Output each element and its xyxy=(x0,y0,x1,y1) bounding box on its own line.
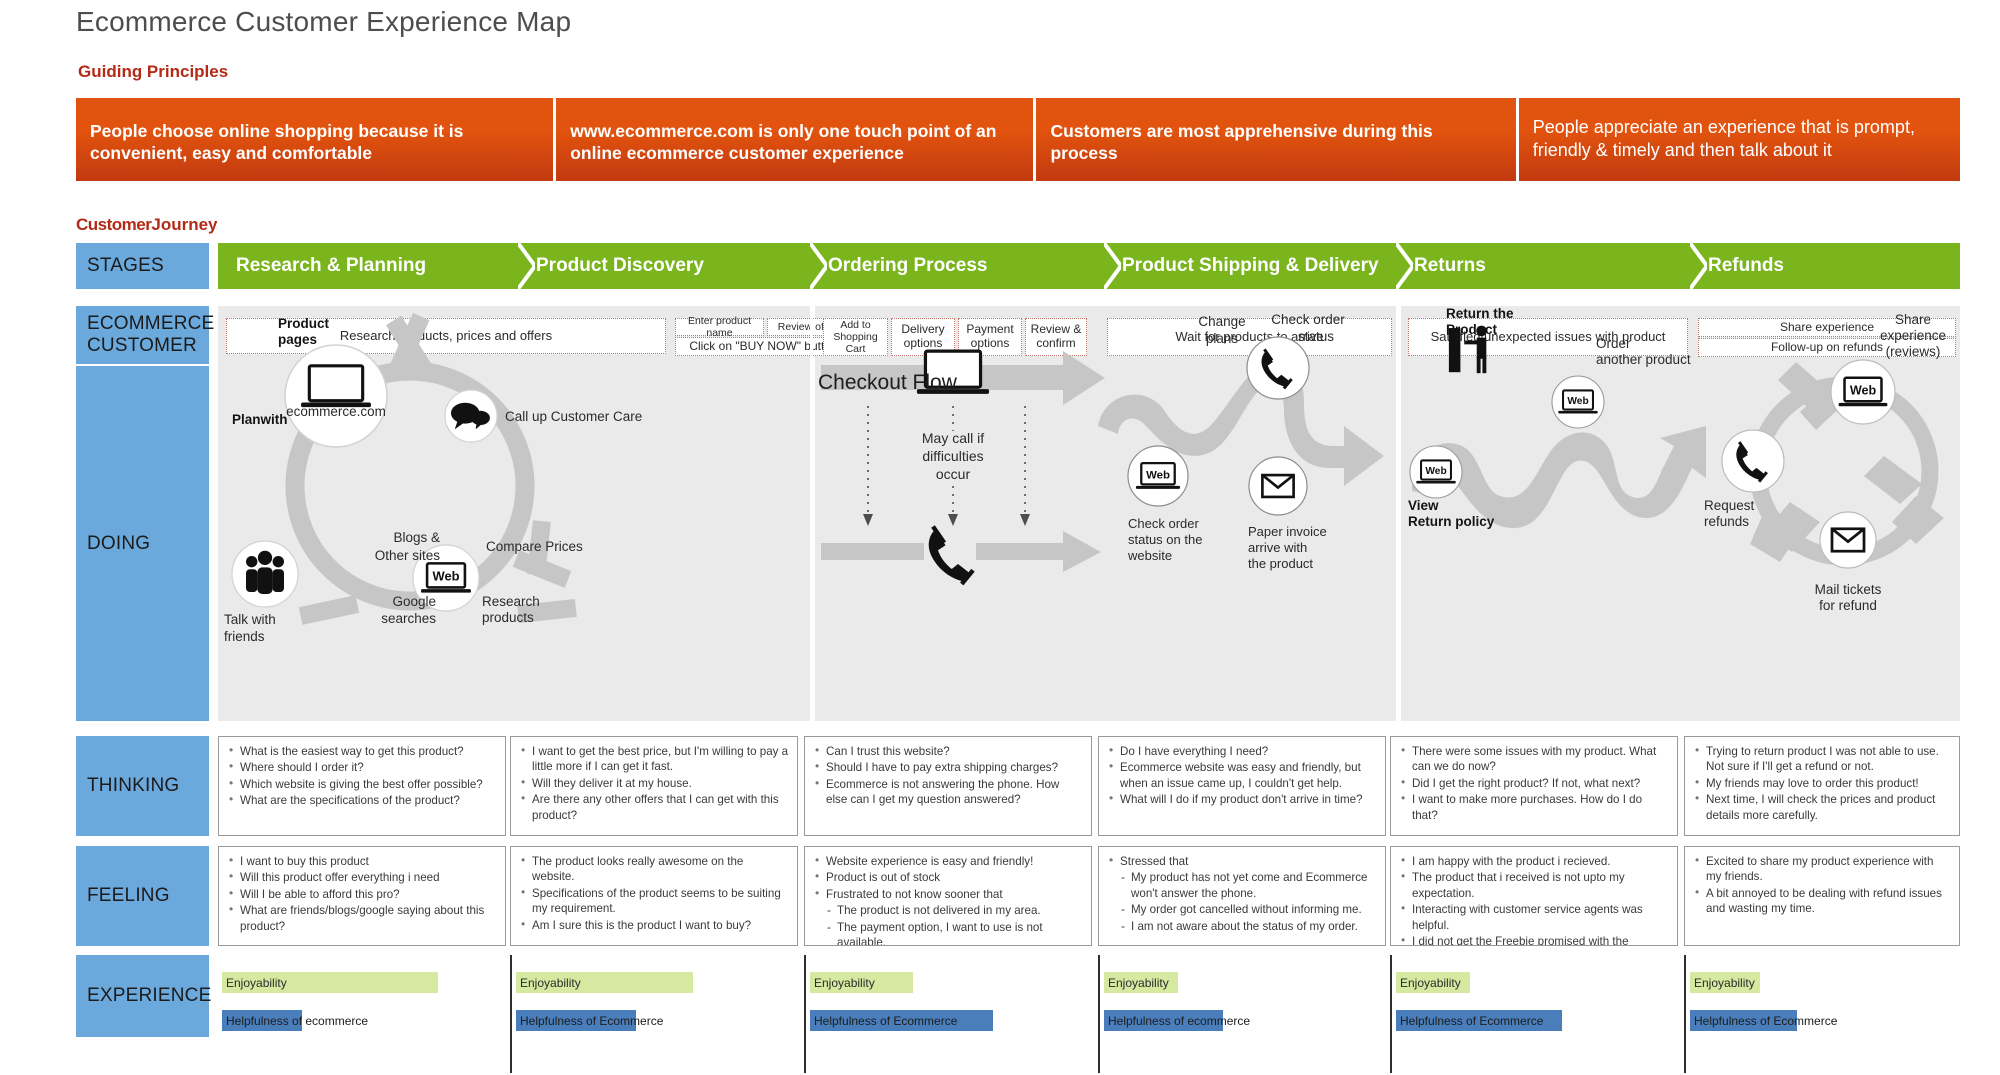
list-item: The payment option, I want to use is not… xyxy=(815,920,1083,946)
list-item: Did I get the right product? If not, wha… xyxy=(1401,776,1669,791)
paper-invoice-line2: arrive with xyxy=(1248,540,1307,555)
list-item: My order got cancelled without informing… xyxy=(1109,902,1377,917)
helpfulness-label: Helpfulness of Ecommerce xyxy=(1690,1014,1837,1028)
mail-tickets-line2: for refund xyxy=(1819,598,1877,613)
web-laptop-icon xyxy=(1839,378,1888,407)
row-label-experience: EXPERIENCE xyxy=(76,955,209,1037)
enjoyability-bar: Enjoyability xyxy=(516,972,693,993)
list-item: I want to buy this product xyxy=(229,854,497,869)
order-another-line1: Order xyxy=(1596,336,1631,351)
envelope-icon xyxy=(1832,529,1864,551)
thinking-cell-product-discovery: I want to get the best price, but I'm wi… xyxy=(510,736,798,836)
feeling-cell-product-discovery: The product looks really awesome on the … xyxy=(510,846,798,946)
list-item: What are the specifications of the produ… xyxy=(229,793,497,808)
list-item: What is the easiest way to get this prod… xyxy=(229,744,497,759)
blogs-other-sites-line1: Blogs & xyxy=(393,530,440,545)
chevron-right-icon xyxy=(1104,243,1121,289)
row-label-ecommerce-customer: ECOMMERCE CUSTOMER xyxy=(76,306,209,364)
helpfulness-bar: Helpfulness of ecommerce xyxy=(1104,1010,1223,1031)
list-item: Trying to return product I was not able … xyxy=(1695,744,1951,775)
list-item: The product is not delivered in my area. xyxy=(815,903,1083,918)
list-item: The product that i received is not upto … xyxy=(1401,870,1669,901)
guiding-principle-card: People choose online shopping because it… xyxy=(76,98,553,181)
list-item: What will I do if my product don't arriv… xyxy=(1109,792,1377,807)
helpfulness-bar: Helpfulness of Ecommerce xyxy=(810,1010,993,1031)
doing-band: Research products, prices and offers Ent… xyxy=(218,306,1960,721)
guiding-principle-card: www.ecommerce.com is only one touch poin… xyxy=(556,98,1033,181)
share-experience-line2: experience xyxy=(1880,328,1946,343)
laptop-icon xyxy=(301,366,371,407)
web-laptop-icon xyxy=(1416,460,1455,483)
stage-label: Product Discovery xyxy=(536,255,704,277)
check-order-status-website-line3: website xyxy=(1127,548,1172,563)
list-item: Will this product offer everything i nee… xyxy=(229,870,497,885)
google-searches-line1: Google xyxy=(392,594,436,609)
stage-label: Product Shipping & Delivery xyxy=(1122,255,1379,277)
helpfulness-bar: Helpfulness of Ecommerce xyxy=(1396,1010,1562,1031)
list-item: There were some issues with my product. … xyxy=(1401,744,1669,775)
checkout-flow-title: Checkout Flow xyxy=(818,371,957,395)
list-item: My friends may love to order this produc… xyxy=(1695,776,1951,791)
guiding-principles-row: People choose online shopping because it… xyxy=(76,98,1960,181)
research-products-line1: Research xyxy=(482,594,540,609)
returns-diagram: Return the Product Order another product… xyxy=(1408,306,1706,529)
list-item: Excited to share my product experience w… xyxy=(1695,854,1951,885)
chevron-right-icon xyxy=(810,243,827,289)
web-laptop-icon xyxy=(421,563,471,592)
thinking-cell-shipping-delivery: Do I have everything I need?Ecommerce we… xyxy=(1098,736,1386,836)
list-item: Interacting with customer service agents… xyxy=(1401,902,1669,933)
list-item: What are friends/blogs/google saying abo… xyxy=(229,903,497,934)
check-order-status-line1: Check order xyxy=(1271,312,1345,327)
stage-product-discovery[interactable]: Product Discovery xyxy=(518,243,810,289)
stage-label: Refunds xyxy=(1708,255,1784,277)
thinking-cell-returns: There were some issues with my product. … xyxy=(1390,736,1678,836)
enjoyability-bar: Enjoyability xyxy=(1396,972,1470,993)
list-item: The product looks really awesome on the … xyxy=(521,854,789,885)
ecommerce-domain-label: ecommerce.com xyxy=(286,404,386,419)
helpfulness-label: Helpfulness of ecommerce xyxy=(1104,1014,1250,1028)
chevron-right-icon xyxy=(518,243,535,289)
compare-prices-label: Compare Prices xyxy=(486,539,583,554)
guiding-principles-heading: Guiding Principles xyxy=(78,62,228,82)
stage-label: Research & Planning xyxy=(236,255,426,277)
may-call-note-line1: May call if xyxy=(922,430,984,446)
helpfulness-label: Helpfulness of Ecommerce xyxy=(1396,1014,1543,1028)
helpfulness-label: Helpfulness of Ecommerce xyxy=(810,1014,957,1028)
check-order-status-website-line2: status on the xyxy=(1128,532,1202,547)
list-item: I want to get the best price, but I'm wi… xyxy=(521,744,789,775)
helpfulness-bar: Helpfulness of ecommerce xyxy=(222,1010,302,1031)
list-item: I am happy with the product i recieved. xyxy=(1401,854,1669,869)
stage-ordering-process[interactable]: Ordering Process xyxy=(810,243,1104,289)
row-label-feeling: FEELING xyxy=(76,846,209,946)
may-call-note-line2: difficulties xyxy=(922,448,983,464)
doing-diagrams: Web xyxy=(218,306,1960,721)
experience-cell-product-discovery: Enjoyability Helpfulness of Ecommerce xyxy=(510,955,804,1073)
list-item: I did not get the Freebie promised with … xyxy=(1401,934,1669,946)
share-experience-line3: (reviews) xyxy=(1886,344,1941,359)
request-refunds-line1: Request xyxy=(1704,498,1755,513)
helpfulness-label: Helpfulness of ecommerce xyxy=(222,1014,368,1028)
customer-journey-word-1: Customer xyxy=(76,215,151,234)
experience-cell-refunds: Enjoyability Helpfulness of Ecommerce xyxy=(1684,955,1960,1073)
enjoyability-bar: Enjoyability xyxy=(810,972,913,993)
stage-label: Ordering Process xyxy=(828,255,987,277)
list-item: Ecommerce is not answering the phone. Ho… xyxy=(815,777,1083,808)
plan-with-label: Planwith xyxy=(232,412,288,427)
experience-cell-returns: Enjoyability Helpfulness of Ecommerce xyxy=(1390,955,1684,1073)
stage-research-planning[interactable]: Research & Planning xyxy=(218,243,518,289)
column-separator xyxy=(1396,306,1399,721)
thinking-cell-ordering-process: Can I trust this website?Should I have t… xyxy=(804,736,1092,836)
page-title: Ecommerce Customer Experience Map xyxy=(76,6,571,38)
paper-invoice-line1: Paper invoice xyxy=(1248,524,1327,539)
paper-invoice-line3: the product xyxy=(1248,556,1313,571)
enjoyability-label: Enjoyability xyxy=(1690,976,1755,990)
enjoyability-bar: Enjoyability xyxy=(1104,972,1178,993)
enjoyability-label: Enjoyability xyxy=(810,976,875,990)
enjoyability-bar: Enjoyability xyxy=(222,972,438,993)
column-separator xyxy=(810,306,813,721)
thinking-cell-refunds: Trying to return product I was not able … xyxy=(1684,736,1960,836)
list-item: Are there any other offers that I can ge… xyxy=(521,792,789,823)
feeling-cell-shipping-delivery: Stressed thatMy product has not yet come… xyxy=(1098,846,1386,946)
feeling-row: I want to buy this productWill this prod… xyxy=(218,846,1960,946)
enjoyability-label: Enjoyability xyxy=(1104,976,1169,990)
request-refunds-line2: refunds xyxy=(1704,514,1749,529)
phone-handset-icon xyxy=(929,527,973,585)
customer-journey-word-2: Journey xyxy=(151,215,217,234)
stage-refunds[interactable]: Refunds xyxy=(1690,243,1960,289)
product-pages-label-line2: pages xyxy=(278,332,317,347)
may-call-note-line3: occur xyxy=(936,466,971,482)
list-item: Am I sure this is the product I want to … xyxy=(521,918,789,933)
research-planning-circular-diagram: ecommerce.com Product pages Planwith Cal… xyxy=(224,313,642,644)
list-item: Will they deliver it at my house. xyxy=(521,776,789,791)
experience-row: Enjoyability Helpfulness of ecommerce En… xyxy=(218,955,1960,1073)
stage-product-shipping-delivery[interactable]: Product Shipping & Delivery xyxy=(1104,243,1396,289)
enjoyability-label: Enjoyability xyxy=(222,976,287,990)
list-item: Website experience is easy and friendly! xyxy=(815,854,1083,869)
list-item: Which website is giving the best offer p… xyxy=(229,777,497,792)
list-item: Stressed that xyxy=(1109,854,1377,869)
helpfulness-bar: Helpfulness of Ecommerce xyxy=(516,1010,636,1031)
list-item: Where should I order it? xyxy=(229,760,497,775)
change-plans-line1: Change xyxy=(1198,314,1245,329)
row-label-text: ECOMMERCE CUSTOMER xyxy=(87,313,214,357)
enjoyability-label: Enjoyability xyxy=(1396,976,1461,990)
helpfulness-label: Helpfulness of Ecommerce xyxy=(516,1014,663,1028)
list-item: Can I trust this website? xyxy=(815,744,1083,759)
envelope-icon xyxy=(1262,475,1293,497)
call-customer-care-label: Call up Customer Care xyxy=(505,409,642,424)
talk-with-friends-line1: Talk with xyxy=(224,612,276,627)
feeling-cell-returns: I am happy with the product i recieved.T… xyxy=(1390,846,1678,946)
product-pages-label-line1: Product xyxy=(278,316,330,331)
list-item: Should I have to pay extra shipping char… xyxy=(815,760,1083,775)
list-item: Frustrated to not know sooner that xyxy=(815,887,1083,902)
stage-returns[interactable]: Returns xyxy=(1396,243,1690,289)
web-laptop-icon xyxy=(1558,390,1597,413)
return-product-line1: Return the xyxy=(1446,306,1514,321)
list-item: Will I be able to afford this pro? xyxy=(229,887,497,902)
google-searches-line2: searches xyxy=(381,611,436,626)
experience-cell-shipping-delivery: Enjoyability Helpfulness of ecommerce xyxy=(1098,955,1390,1073)
row-label-thinking: THINKING xyxy=(76,736,209,836)
enjoyability-bar: Enjoyability xyxy=(1690,972,1760,993)
list-item: Next time, I will check the prices and p… xyxy=(1695,792,1951,823)
customer-journey-heading: CustomerJourney xyxy=(76,215,218,235)
feeling-cell-ordering-process: Website experience is easy and friendly!… xyxy=(804,846,1092,946)
guiding-principle-card: People appreciate an experience that is … xyxy=(1519,98,1960,181)
enjoyability-label: Enjoyability xyxy=(516,976,581,990)
talk-with-friends-line2: friends xyxy=(224,629,265,644)
list-item: Specifications of the product seems to b… xyxy=(521,886,789,917)
view-return-policy-line2: Return policy xyxy=(1408,514,1495,529)
list-item: Do I have everything I need? xyxy=(1109,744,1377,759)
list-item: A bit annoyed to be dealing with refund … xyxy=(1695,886,1951,917)
view-return-policy-line1: View xyxy=(1408,498,1439,513)
web-laptop-icon xyxy=(1136,463,1180,489)
feeling-cell-research-planning: I want to buy this productWill this prod… xyxy=(218,846,506,946)
row-label-doing: DOING xyxy=(76,366,209,721)
list-item: My product has not yet come and Ecommerc… xyxy=(1109,870,1377,901)
thinking-row: What is the easiest way to get this prod… xyxy=(218,736,1960,836)
shipping-delivery-diagram: Change plans Check order status Check or… xyxy=(1098,312,1384,571)
guiding-principle-card: Customers are most apprehensive during t… xyxy=(1036,98,1515,181)
chevron-right-icon xyxy=(1396,243,1413,289)
list-item: Ecommerce website was easy and friendly,… xyxy=(1109,760,1377,791)
blogs-other-sites-line2: Other sites xyxy=(375,548,441,563)
change-plans-line2: plans xyxy=(1206,331,1239,346)
list-item: I want to make more purchases. How do I … xyxy=(1401,792,1669,823)
mail-tickets-line1: Mail tickets xyxy=(1815,582,1882,597)
share-experience-line1: Share xyxy=(1895,312,1931,327)
experience-cell-research-planning: Enjoyability Helpfulness of ecommerce xyxy=(218,955,510,1073)
experience-cell-ordering-process: Enjoyability Helpfulness of Ecommerce xyxy=(804,955,1098,1073)
people-icon xyxy=(246,551,284,594)
stages-row: Research & Planning Product Discovery Or… xyxy=(218,243,1960,289)
helpfulness-bar: Helpfulness of Ecommerce xyxy=(1690,1010,1797,1031)
list-item: Product is out of stock xyxy=(815,870,1083,885)
feeling-cell-refunds: Excited to share my product experience w… xyxy=(1684,846,1960,946)
refunds-circular-diagram: Share experience (reviews) Request refun… xyxy=(1704,312,1946,613)
chevron-right-icon xyxy=(1690,243,1707,289)
list-item: I am not aware about the status of my or… xyxy=(1109,919,1377,934)
order-another-line2: another product xyxy=(1596,352,1691,367)
stage-label: Returns xyxy=(1414,255,1486,277)
research-products-line2: products xyxy=(482,610,534,625)
check-order-status-line2: status xyxy=(1298,329,1334,344)
thinking-cell-research-planning: What is the easiest way to get this prod… xyxy=(218,736,506,836)
row-label-stages: STAGES xyxy=(76,243,209,289)
check-order-status-website-line1: Check order xyxy=(1128,516,1199,531)
